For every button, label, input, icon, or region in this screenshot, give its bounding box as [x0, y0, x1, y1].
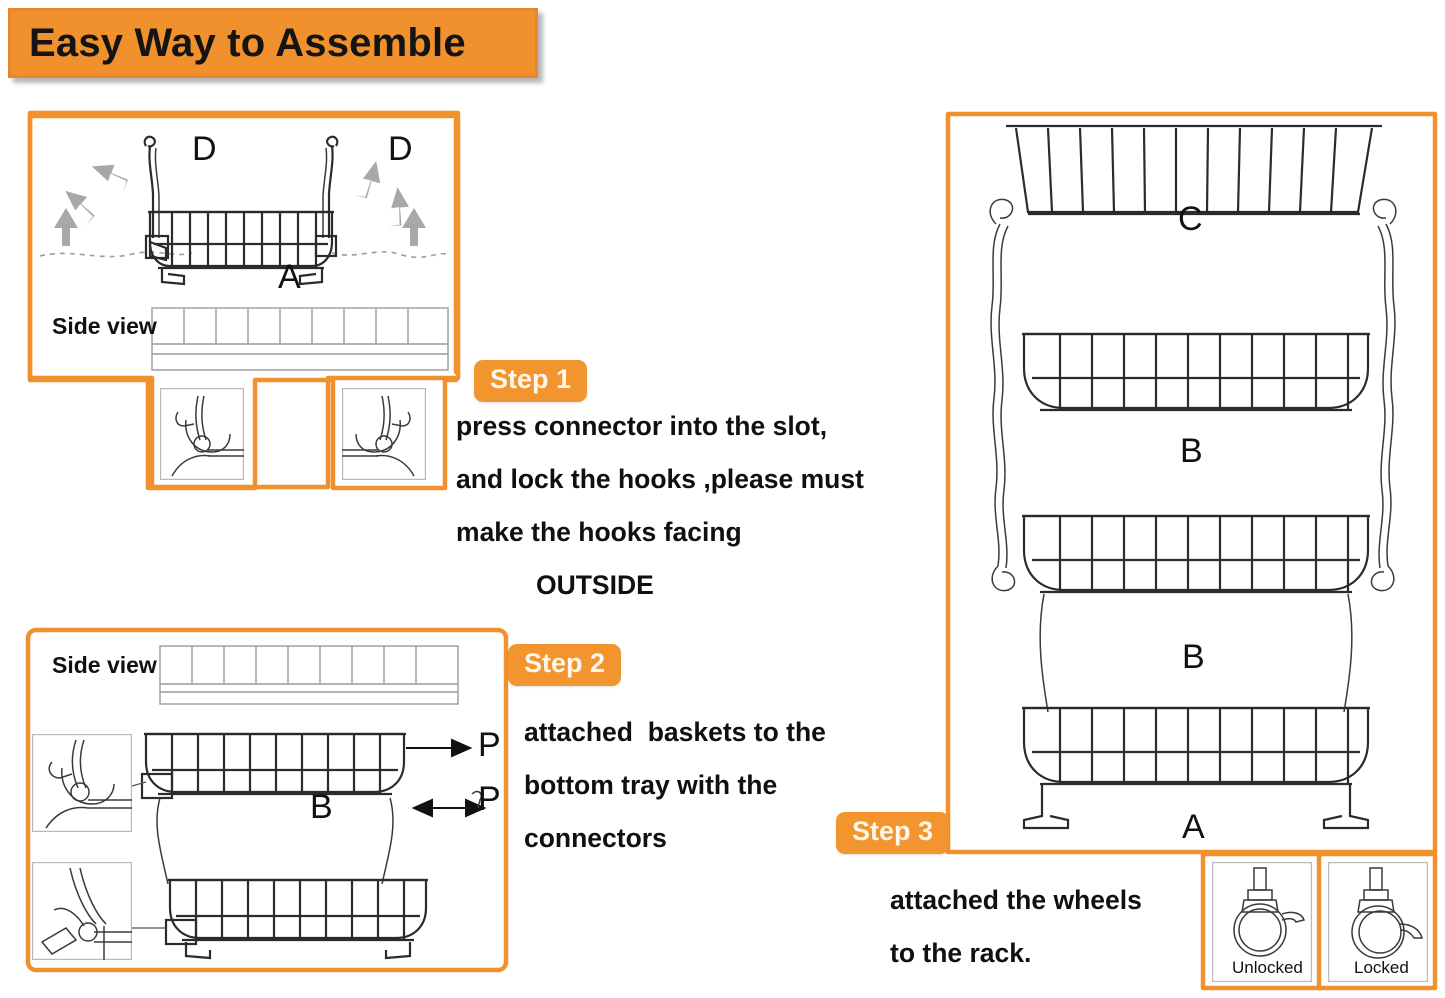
- wheel-unlocked-caption: Unlocked: [1232, 958, 1303, 978]
- side-rail-right-hook-bottom: [1371, 566, 1393, 591]
- motion-arrow-right-group: [349, 161, 426, 246]
- step2-label-b: B: [310, 788, 333, 827]
- motion-arrow-left-group: [54, 154, 132, 246]
- step1-instruction-line-1: press connector into the slot,: [456, 400, 956, 453]
- connector-rail-right: [1344, 594, 1352, 712]
- step3-instruction-line-1: attached the wheels: [890, 874, 1230, 927]
- step2-rail-right: [382, 798, 393, 884]
- step1-label-a: A: [278, 258, 301, 297]
- step2-side-view-bars: [160, 646, 458, 692]
- step2-side-view-label: Side view: [52, 652, 157, 679]
- step2-instruction-line-1: attached baskets to the: [524, 706, 944, 759]
- tray-a-foot-right: [1324, 784, 1368, 828]
- rail-ghost-right: [332, 252, 450, 257]
- basket-lower-outline: [170, 880, 426, 938]
- push-arrow-top: [406, 740, 470, 756]
- side-view-tray-bars: [152, 308, 448, 354]
- basket-lower-foot-right: [386, 942, 410, 958]
- step2-rail-left: [157, 798, 168, 884]
- step1-instruction-line-3: make the hooks facing: [456, 506, 956, 559]
- step2-label-p-top: P: [478, 726, 501, 765]
- step2-label-p-bottom: P: [478, 780, 501, 819]
- basket-b-upper-bars: [172, 734, 380, 794]
- tray-a-foot-left: [1024, 784, 1068, 828]
- step2-instruction-line-2: bottom tray with the: [524, 759, 944, 812]
- step3-label-b-lower: B: [1182, 638, 1205, 677]
- rail-right-inner: [323, 148, 327, 238]
- tray-a-outline: [150, 212, 332, 266]
- side-rail-right-inner: [1378, 226, 1387, 568]
- rail-left-hook: [145, 137, 155, 147]
- step1-inset-hook-right: [342, 388, 426, 480]
- step2-badge: Step 2: [508, 644, 621, 686]
- wheel-locked-caption: Locked: [1354, 958, 1409, 978]
- step1-instruction-line-4: OUTSIDE: [536, 559, 936, 612]
- step2-inset-connector-top: [32, 734, 132, 832]
- push-arrow-bottom: [414, 800, 484, 816]
- basket-lower-bars: [196, 880, 404, 940]
- rail-left-inner: [155, 148, 159, 238]
- tray-foot-right: [300, 268, 322, 284]
- step2-side-view-box: [160, 646, 458, 704]
- leader-line-top: [132, 782, 146, 786]
- side-rail-right: [1386, 224, 1395, 566]
- step2-inset-connector-bottom: [32, 862, 132, 960]
- side-rail-left: [991, 224, 1000, 566]
- basket-b-middle: [1022, 334, 1370, 410]
- rail-ghost-left: [40, 252, 192, 257]
- side-rail-left-inner: [999, 226, 1008, 568]
- side-rail-left-hook-top: [990, 199, 1012, 224]
- step3-label-a: A: [1182, 808, 1205, 847]
- side-rail-left-hook-bottom: [992, 566, 1014, 591]
- step1-instruction-line-2: and lock the hooks ,please must: [456, 453, 956, 506]
- step1-badge: Step 1: [474, 360, 587, 402]
- step1-label-d-right: D: [388, 130, 413, 169]
- basket-b-lower: [1022, 516, 1370, 592]
- rail-right-hook: [327, 137, 337, 147]
- step3-badge: Step 3: [836, 812, 949, 854]
- step1-side-view-label: Side view: [52, 313, 157, 340]
- step3-instruction-line-2: to the rack.: [890, 927, 1230, 980]
- step1-inset-hook-left: [160, 388, 244, 480]
- side-rail-right-hook-top: [1373, 199, 1395, 224]
- step3-label-b-middle: B: [1180, 432, 1203, 471]
- tray-foot-left: [162, 268, 184, 284]
- side-view-tray-box: [152, 308, 448, 370]
- step1-label-d-left: D: [192, 130, 217, 169]
- connector-rail-left: [1040, 594, 1048, 712]
- step3-label-c: C: [1178, 200, 1203, 239]
